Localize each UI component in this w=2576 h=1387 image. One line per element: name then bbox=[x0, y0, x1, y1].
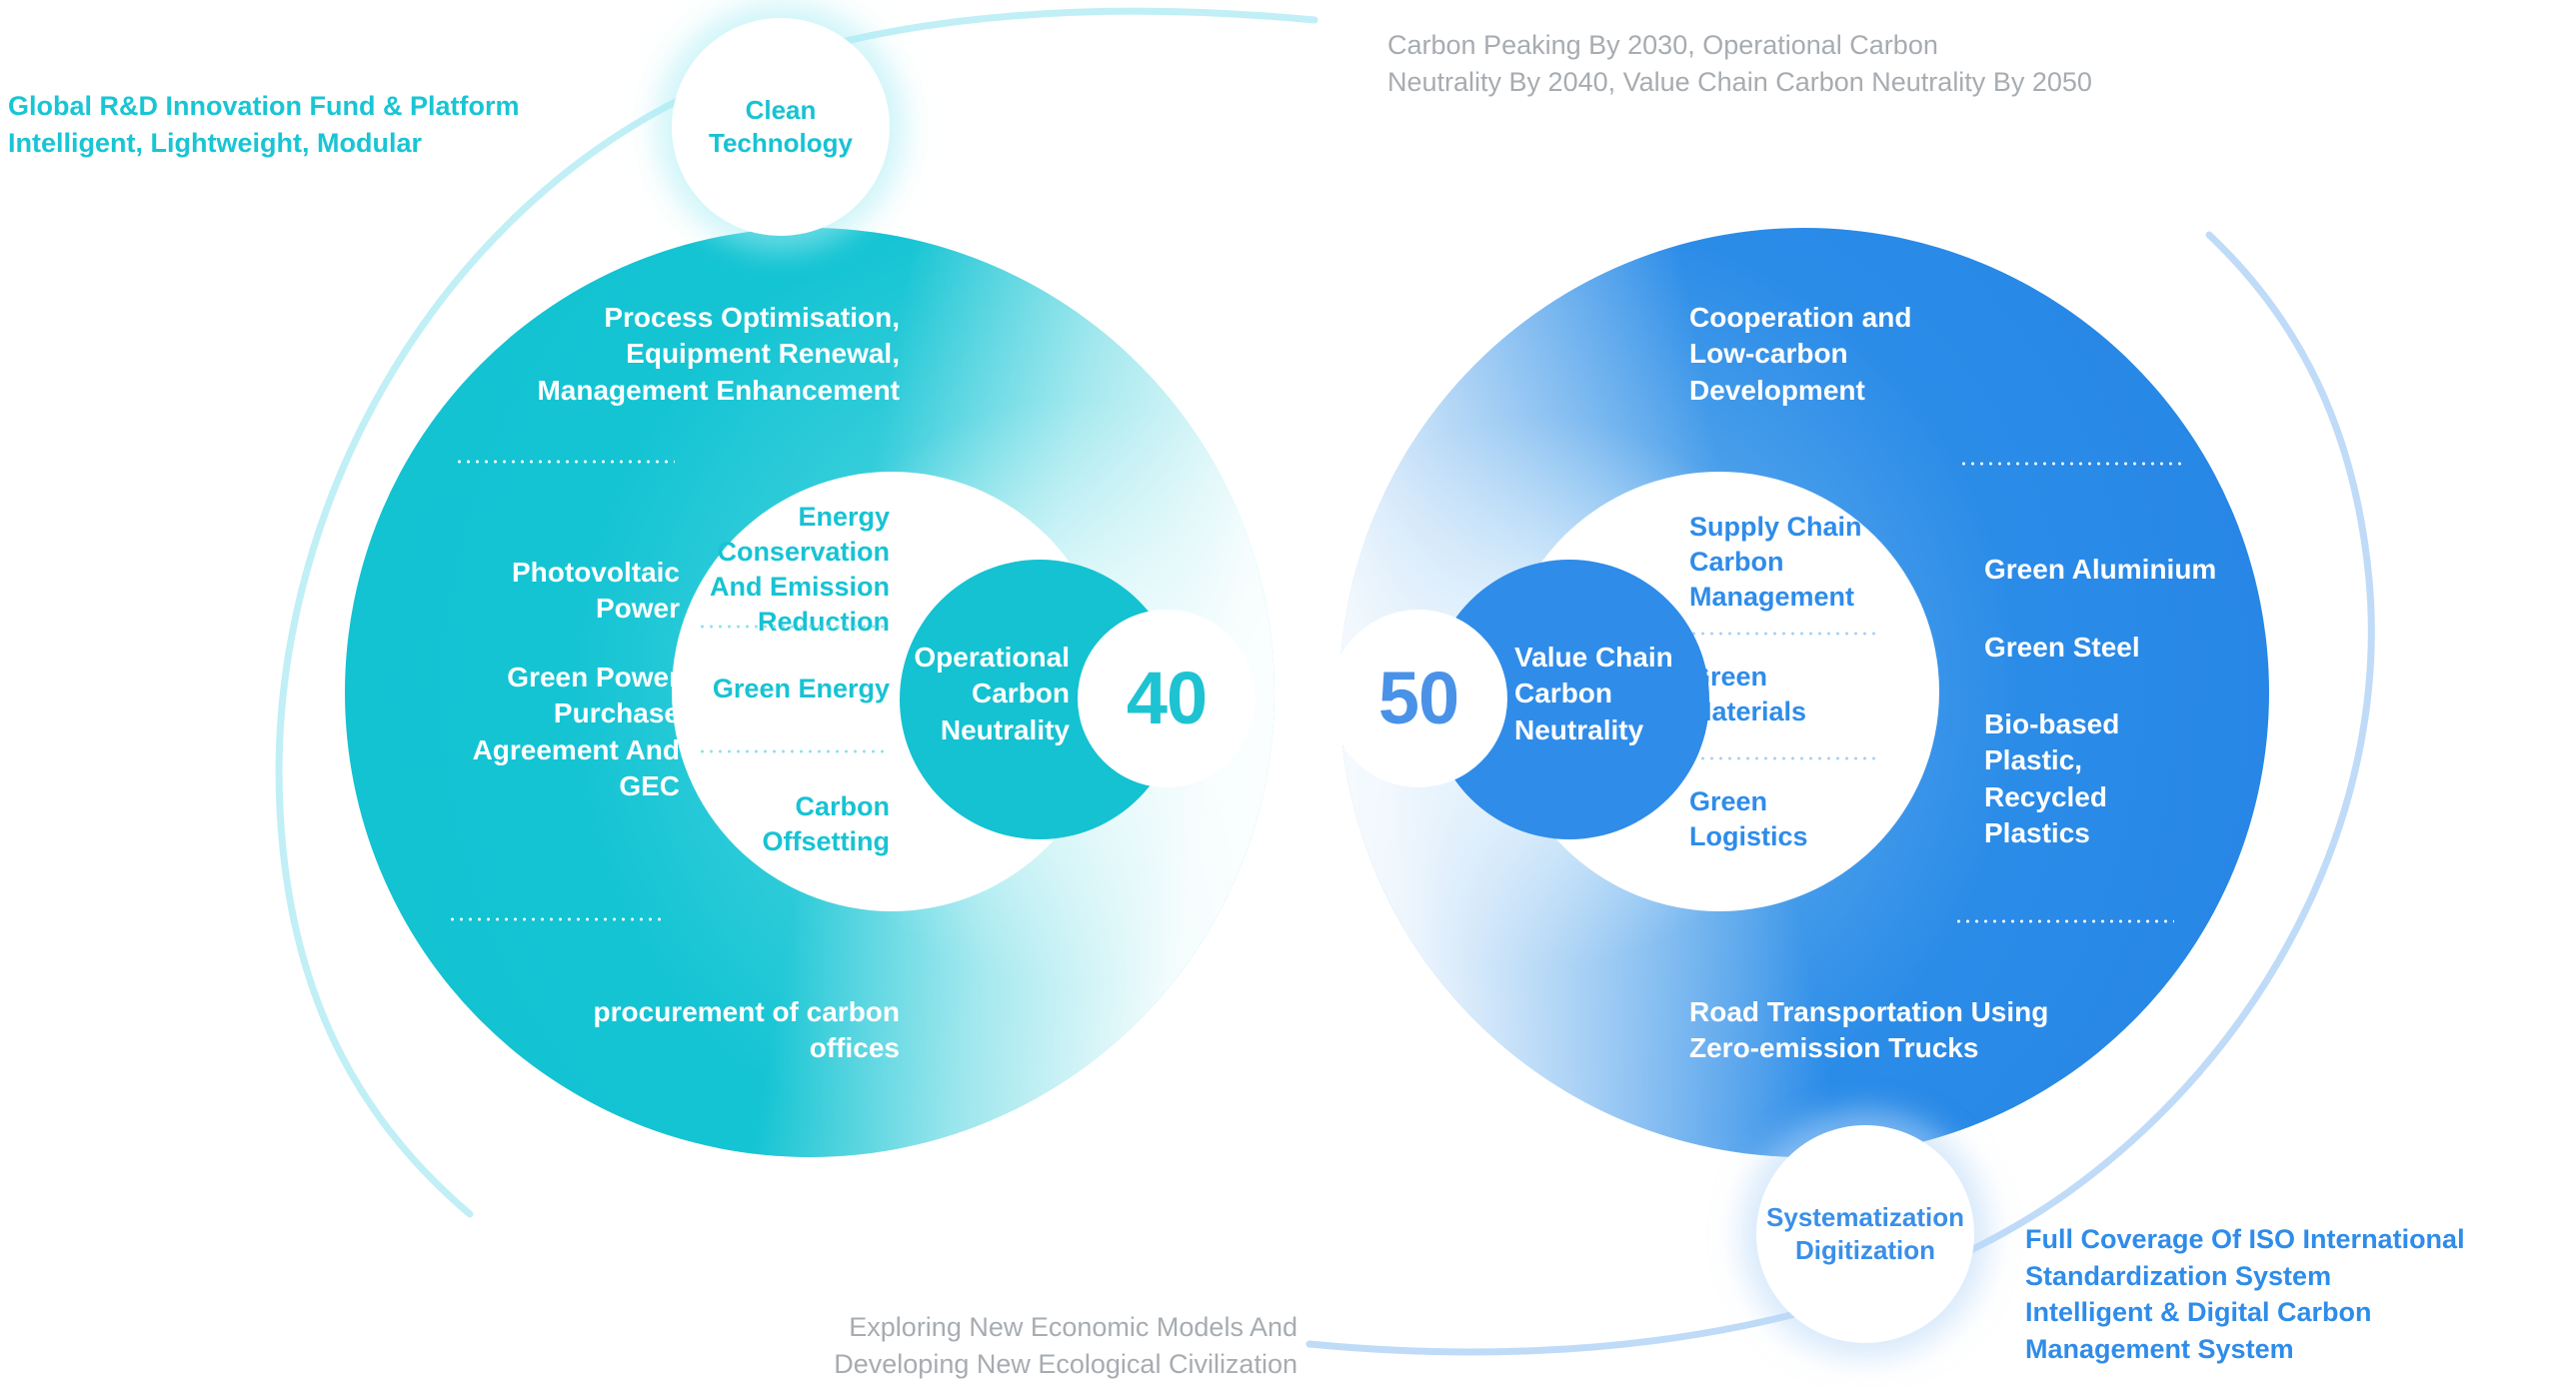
annotation-bottom-left: Exploring New Economic Models And Develo… bbox=[698, 1309, 1297, 1382]
right-outer-right-label-1: Green Aluminium bbox=[1984, 552, 2314, 588]
left-inner-divider-1 bbox=[698, 625, 890, 629]
right-outer-divider-bottom bbox=[1954, 919, 2174, 923]
right-number-bubble: 50 bbox=[1329, 610, 1507, 787]
systematization-digitization-bubble[interactable]: Systematization Digitization bbox=[1756, 1125, 1974, 1343]
annotation-top-left: Global R&D Innovation Fund & Platform In… bbox=[8, 88, 628, 161]
right-outer-top-label: Cooperation and Low-carbon Development bbox=[1689, 300, 2109, 409]
right-outer-divider-top bbox=[1959, 462, 2184, 466]
left-outer-left-label-2: Green Power Purchase Agreement And GEC bbox=[310, 660, 680, 805]
right-core-label: Value Chain Carbon Neutrality bbox=[1514, 640, 1714, 748]
left-outer-divider-bottom bbox=[448, 917, 663, 921]
systematization-digitization-label: Systematization Digitization bbox=[1756, 1201, 1974, 1268]
left-inner-item-2: Carbon Offsetting bbox=[660, 789, 890, 859]
annotation-bottom-right: Full Coverage Of ISO International Stand… bbox=[2025, 1221, 2565, 1368]
right-inner-item-1: Green Materials bbox=[1689, 660, 1939, 729]
left-outer-divider-top bbox=[455, 460, 675, 464]
clean-technology-bubble[interactable]: Clean Technology bbox=[672, 18, 890, 236]
right-inner-item-2: Green Logistics bbox=[1689, 784, 1939, 854]
right-outer-right-label-3: Bio-based Plastic, Recycled Plastics bbox=[1984, 706, 2224, 852]
right-inner-divider-1 bbox=[1689, 632, 1881, 636]
left-core-label: Operational Carbon Neutrality bbox=[880, 640, 1070, 748]
left-outer-bottom-label: procurement of carbon offices bbox=[470, 994, 900, 1067]
annotation-top-right: Carbon Peaking By 2030, Operational Carb… bbox=[1387, 27, 2287, 100]
left-inner-divider-2 bbox=[698, 749, 890, 753]
infographic-canvas: Process Optimisation, Equipment Renewal,… bbox=[0, 0, 2576, 1387]
right-outer-bottom-label: Road Transportation Using Zero-emission … bbox=[1689, 994, 2159, 1067]
right-number-value: 50 bbox=[1378, 662, 1458, 735]
clean-technology-label: Clean Technology bbox=[672, 94, 890, 161]
left-number-value: 40 bbox=[1127, 662, 1207, 735]
left-inner-item-1: Green Energy bbox=[640, 672, 890, 706]
left-outer-left-label-1: Photovoltaic Power bbox=[330, 555, 680, 628]
right-inner-divider-2 bbox=[1689, 756, 1881, 760]
left-outer-top-label: Process Optimisation, Equipment Renewal,… bbox=[500, 300, 900, 409]
left-inner-item-0: Energy Conservation And Emission Reducti… bbox=[660, 500, 890, 640]
right-outer-right-label-2: Green Steel bbox=[1984, 630, 2314, 666]
right-inner-item-0: Supply Chain Carbon Management bbox=[1689, 510, 1939, 615]
left-number-bubble: 40 bbox=[1078, 610, 1256, 787]
